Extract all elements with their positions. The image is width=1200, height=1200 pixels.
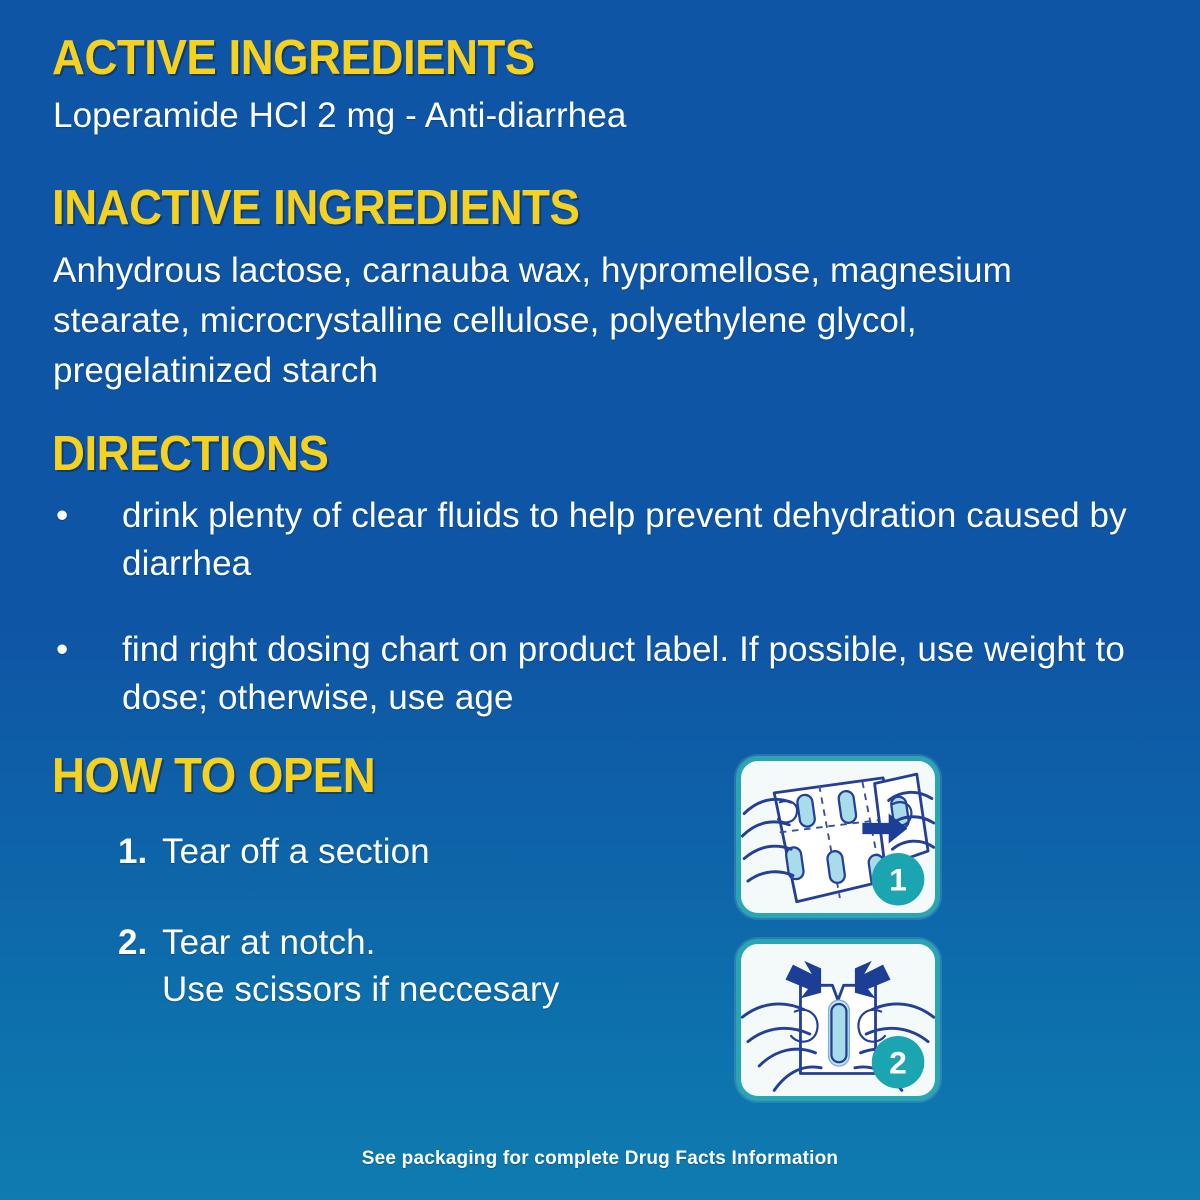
inactive-ingredients-text: Anhydrous lactose, carnauba wax, hyprome… xyxy=(53,246,1113,396)
directions-heading: DIRECTIONS xyxy=(52,426,328,482)
how-to-open-step: 1. Tear off a section xyxy=(118,828,718,875)
step-text: Tear off a section xyxy=(162,828,430,875)
active-ingredients-heading: ACTIVE INGREDIENTS xyxy=(52,30,535,86)
blister-tear-section-icon: 1 xyxy=(741,761,935,913)
how-to-open-illustration-1: 1 xyxy=(736,756,940,918)
step-number: 2. xyxy=(118,919,162,966)
how-to-open-heading: HOW TO OPEN xyxy=(52,748,375,804)
directions-item-text: find right dosing chart on product label… xyxy=(122,626,1168,722)
step-number: 1. xyxy=(118,828,162,875)
how-to-open-step: 2. Tear at notch. Use scissors if necces… xyxy=(118,919,718,1013)
bullet-icon: • xyxy=(48,626,122,674)
inactive-ingredients-heading: INACTIVE INGREDIENTS xyxy=(52,180,579,236)
directions-item-text: drink plenty of clear fluids to help pre… xyxy=(122,492,1168,588)
active-ingredients-text: Loperamide HCl 2 mg - Anti-diarrhea xyxy=(53,96,626,136)
step-text: Tear at notch. Use scissors if neccesary xyxy=(162,919,559,1013)
step-badge-2-number: 2 xyxy=(889,1044,907,1080)
drug-label-panel: ACTIVE INGREDIENTS Loperamide HCl 2 mg -… xyxy=(0,0,1200,1200)
how-to-open-steps: 1. Tear off a section 2. Tear at notch. … xyxy=(118,828,718,1057)
directions-list-item: • drink plenty of clear fluids to help p… xyxy=(48,492,1168,588)
footer-note: See packaging for complete Drug Facts In… xyxy=(0,1148,1200,1170)
step-badge-1-number: 1 xyxy=(889,861,907,897)
blister-tear-notch-icon: 2 xyxy=(741,944,935,1096)
how-to-open-illustration-2: 2 xyxy=(736,939,940,1101)
directions-list: • drink plenty of clear fluids to help p… xyxy=(48,492,1168,760)
directions-list-item: • find right dosing chart on product lab… xyxy=(48,626,1168,722)
bullet-icon: • xyxy=(48,492,122,540)
